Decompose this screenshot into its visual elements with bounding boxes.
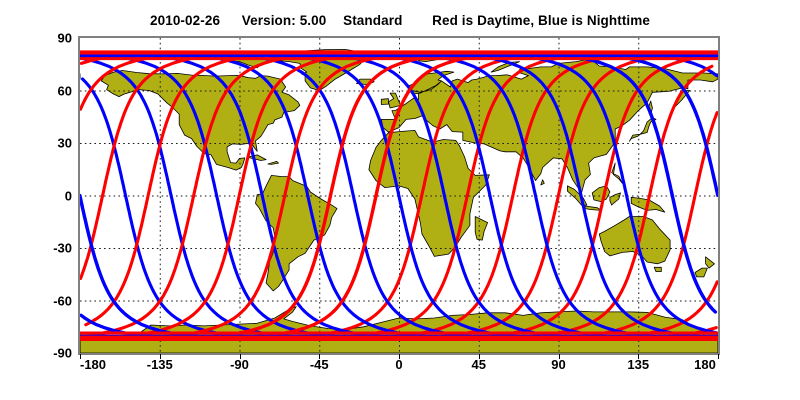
y-tick-label-0: 0 (10, 188, 72, 203)
y-tick-label-30: 30 (10, 136, 72, 151)
x-tick-label-0: 0 (395, 357, 402, 372)
y-tick-label--60: -60 (10, 293, 72, 308)
x-tick-mark--135 (160, 354, 161, 359)
title-version: Version: 5.00 (242, 13, 327, 28)
x-tick-label--45: -45 (310, 357, 329, 372)
ground-track-map-figure: 2010-02-26 Version: 5.00 Standard Red is… (0, 0, 800, 400)
y-tick-label-90: 90 (10, 31, 72, 46)
y-tick-label--30: -30 (10, 241, 72, 256)
map-plot-area (78, 36, 720, 355)
title-mode: Standard (343, 13, 402, 28)
x-tick-label-180: 180 (694, 357, 716, 372)
x-tick-mark-90 (559, 354, 560, 359)
x-tick-mark-180 (718, 354, 719, 359)
map-canvas (80, 38, 718, 353)
x-tick-mark--90 (240, 354, 241, 359)
title-legend: Red is Daytime, Blue is Nighttime (432, 13, 650, 28)
x-tick-label-135: 135 (627, 357, 649, 372)
x-tick-label--90: -90 (230, 357, 249, 372)
x-tick-mark--180 (80, 354, 81, 359)
y-tick-label--90: -90 (10, 346, 72, 361)
x-tick-mark-45 (479, 354, 480, 359)
figure-title: 2010-02-26 Version: 5.00 Standard Red is… (0, 13, 800, 28)
x-tick-mark-135 (638, 354, 639, 359)
x-tick-mark-0 (399, 354, 400, 359)
map-svg (80, 38, 718, 353)
x-tick-label-45: 45 (472, 357, 486, 372)
land-ireland (381, 99, 388, 105)
x-tick-label--180: -180 (80, 357, 106, 372)
y-tick-label-60: 60 (10, 83, 72, 98)
title-date: 2010-02-26 (150, 13, 220, 28)
x-tick-label--135: -135 (147, 357, 173, 372)
x-tick-mark--45 (319, 354, 320, 359)
x-tick-label-90: 90 (551, 357, 565, 372)
